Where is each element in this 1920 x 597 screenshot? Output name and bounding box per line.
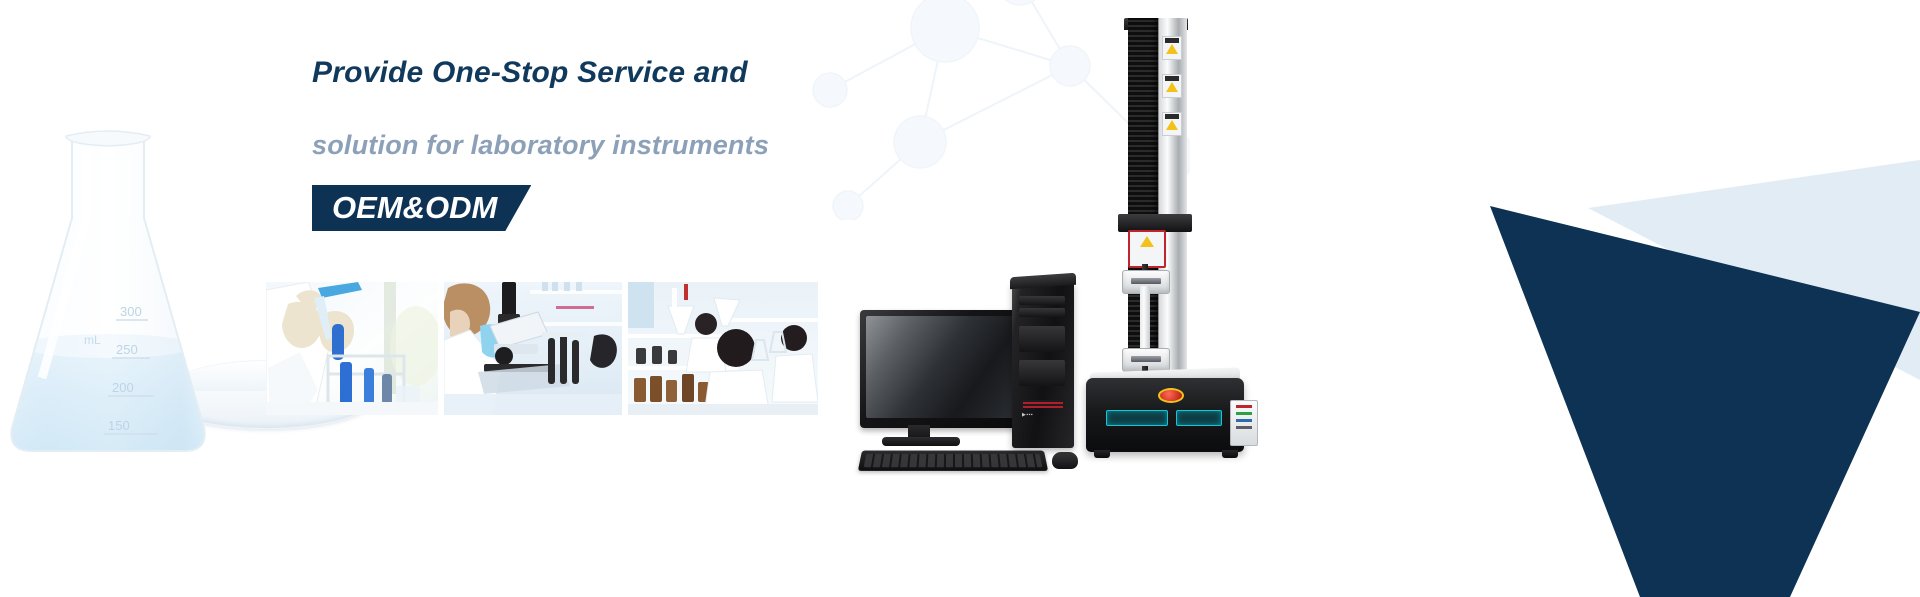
warning-label-icon	[1162, 74, 1182, 98]
mouse	[1052, 452, 1078, 469]
desktop-monitor	[860, 310, 1020, 428]
keyboard	[858, 451, 1048, 471]
utm-foot	[1222, 450, 1238, 458]
utm-indicator-panel-right	[1176, 410, 1222, 426]
promo-banner: 300 250 200 150 mL Provide One-Stop Serv…	[0, 0, 1920, 597]
erlenmeyer-flask: 300 250 200 150 mL	[0, 110, 218, 462]
computer-tower: ▶▪▪▪	[1012, 282, 1074, 448]
svg-text:300: 300	[120, 304, 142, 319]
utm-control-box[interactable]	[1230, 400, 1258, 446]
tower-panel	[1019, 360, 1065, 386]
tower-led-strip	[1021, 400, 1065, 408]
emergency-stop-button[interactable]	[1158, 388, 1184, 403]
universal-testing-machine	[1098, 18, 1233, 448]
keyboard-keys	[864, 454, 1043, 467]
svg-text:200: 200	[112, 380, 134, 395]
warning-label-icon	[1162, 112, 1182, 136]
svg-text:250: 250	[116, 342, 138, 357]
utm-load-cell	[1128, 230, 1166, 268]
monitor-stand-base	[882, 437, 960, 446]
warning-label-icon	[1162, 36, 1182, 60]
utm-indicator-panel-left	[1106, 410, 1168, 426]
tower-drive-bay	[1019, 308, 1065, 317]
tower-panel	[1019, 326, 1065, 352]
monitor-screen	[866, 316, 1014, 418]
photo-pipetting	[266, 282, 438, 415]
tower-top-panel	[1010, 273, 1076, 290]
oem-odm-badge: OEM&ODM	[312, 185, 531, 231]
equipment-cluster: ▶▪▪▪	[840, 0, 1320, 470]
svg-text:mL: mL	[84, 333, 101, 347]
utm-foot	[1094, 450, 1110, 458]
photo-microscope	[444, 282, 622, 415]
photo-lab-team	[628, 282, 818, 415]
tower-brand-mark: ▶▪▪▪	[1022, 412, 1033, 418]
photo-strip	[266, 282, 818, 415]
svg-text:150: 150	[108, 418, 130, 433]
tower-drive-bay	[1019, 296, 1065, 305]
